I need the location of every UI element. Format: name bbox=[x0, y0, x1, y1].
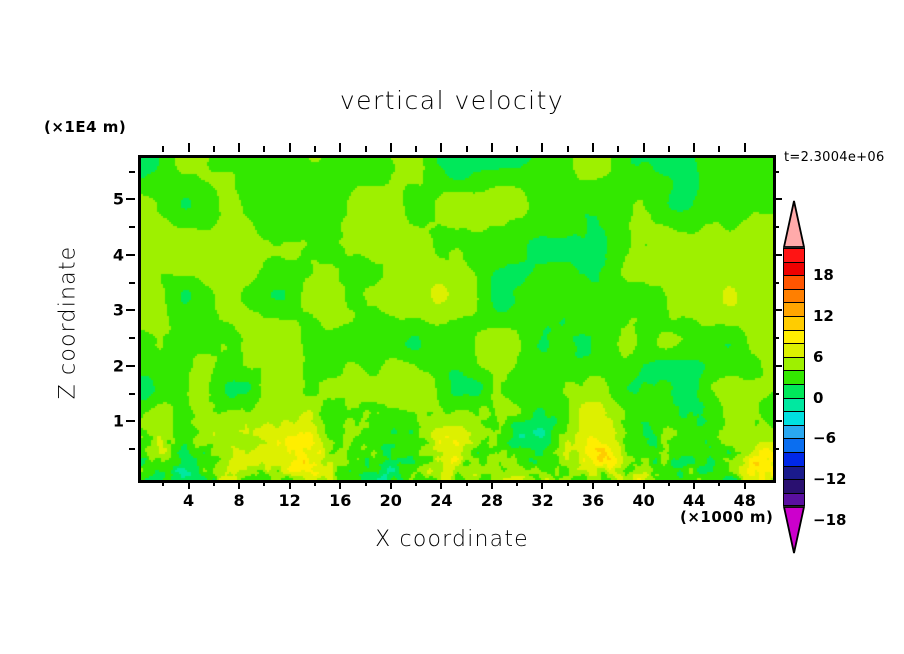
colorbar-band bbox=[783, 493, 805, 507]
x-tick-top bbox=[744, 143, 746, 152]
x-tick-top bbox=[289, 143, 291, 152]
x-tick-top bbox=[188, 143, 190, 152]
colorbar-tick-label: 6 bbox=[813, 348, 823, 366]
y-tick bbox=[129, 226, 135, 228]
contour-field-canvas bbox=[141, 158, 773, 480]
colorbar-band bbox=[783, 425, 805, 439]
colorbar-tick-label: 0 bbox=[813, 389, 823, 407]
x-tick-label: 20 bbox=[380, 491, 402, 510]
y-tick-label: 3 bbox=[98, 301, 124, 320]
y-tick bbox=[129, 282, 135, 284]
x-tick-top bbox=[592, 143, 594, 152]
colorbar-band bbox=[783, 330, 805, 344]
x-tick bbox=[516, 480, 518, 486]
y-tick bbox=[129, 393, 135, 395]
colorbar-band bbox=[783, 275, 805, 289]
x-tick bbox=[592, 480, 594, 489]
x-tick bbox=[718, 480, 720, 486]
x-tick bbox=[339, 480, 341, 489]
x-tick-top bbox=[567, 146, 569, 152]
colorbar: 181260−6−12−18 bbox=[779, 200, 899, 520]
x-tick-top bbox=[415, 146, 417, 152]
x-tick bbox=[314, 480, 316, 486]
colorbar-band bbox=[783, 262, 805, 276]
x-tick-top bbox=[718, 146, 720, 152]
x-tick-label: 40 bbox=[632, 491, 654, 510]
colorbar-tick-label: −12 bbox=[813, 470, 846, 488]
timestamp-annotation: t=2.3004e+06 bbox=[784, 150, 885, 165]
x-tick-top bbox=[339, 143, 341, 152]
x-tick-label: 12 bbox=[279, 491, 301, 510]
colorbar-band bbox=[783, 343, 805, 357]
y-tick-right bbox=[773, 171, 779, 173]
colorbar-band bbox=[783, 452, 805, 466]
x-tick-top bbox=[365, 146, 367, 152]
y-tick bbox=[129, 448, 135, 450]
x-tick bbox=[567, 480, 569, 486]
colorbar-band bbox=[783, 357, 805, 371]
colorbar-band bbox=[783, 248, 805, 262]
y-tick bbox=[129, 171, 135, 173]
y-axis-title: Z coordinate bbox=[56, 193, 81, 453]
x-tick-top bbox=[162, 146, 164, 152]
x-tick bbox=[263, 480, 265, 486]
colorbar-band bbox=[783, 411, 805, 425]
x-tick-top bbox=[617, 146, 619, 152]
x-tick bbox=[213, 480, 215, 486]
chart-title: vertical velocity bbox=[0, 86, 904, 115]
colorbar-band bbox=[783, 384, 805, 398]
x-tick-top bbox=[466, 146, 468, 152]
y-tick-label: 1 bbox=[98, 412, 124, 431]
y-tick bbox=[129, 337, 135, 339]
x-tick bbox=[188, 480, 190, 489]
x-tick-top bbox=[693, 143, 695, 152]
colorbar-band bbox=[783, 302, 805, 316]
x-axis-unit-label: (×1000 m) bbox=[680, 508, 773, 526]
x-tick-top bbox=[314, 146, 316, 152]
x-tick bbox=[643, 480, 645, 489]
x-tick-top bbox=[238, 143, 240, 152]
x-tick bbox=[238, 480, 240, 489]
x-tick-label: 48 bbox=[734, 491, 756, 510]
x-tick-label: 8 bbox=[234, 491, 245, 510]
colorbar-band bbox=[783, 466, 805, 480]
x-tick bbox=[668, 480, 670, 486]
y-tick bbox=[126, 198, 135, 200]
x-tick-top bbox=[668, 146, 670, 152]
x-tick bbox=[415, 480, 417, 486]
y-tick-label: 5 bbox=[98, 190, 124, 209]
colorbar-tick-label: 18 bbox=[813, 266, 834, 284]
colorbar-band bbox=[783, 289, 805, 303]
x-tick bbox=[693, 480, 695, 489]
x-tick bbox=[466, 480, 468, 486]
y-axis-unit-label: (×1E4 m) bbox=[44, 118, 126, 136]
y-tick-label: 4 bbox=[98, 245, 124, 264]
x-tick-top bbox=[516, 146, 518, 152]
x-tick-label: 36 bbox=[582, 491, 604, 510]
colorbar-band bbox=[783, 316, 805, 330]
x-axis-title: X coordinate bbox=[0, 527, 904, 552]
x-tick-label: 4 bbox=[183, 491, 194, 510]
y-tick bbox=[126, 309, 135, 311]
x-tick bbox=[390, 480, 392, 489]
colorbar-tick-label: −18 bbox=[813, 511, 846, 529]
x-tick bbox=[491, 480, 493, 489]
colorbar-band bbox=[783, 370, 805, 384]
y-tick-label: 2 bbox=[98, 356, 124, 375]
y-tick bbox=[126, 365, 135, 367]
x-tick-top bbox=[440, 143, 442, 152]
x-tick-label: 24 bbox=[430, 491, 452, 510]
x-tick-label: 16 bbox=[329, 491, 351, 510]
y-tick bbox=[126, 420, 135, 422]
x-tick-label: 44 bbox=[683, 491, 705, 510]
x-tick-top bbox=[491, 143, 493, 152]
x-tick-label: 32 bbox=[531, 491, 553, 510]
colorbar-bands bbox=[783, 248, 805, 506]
colorbar-tick-label: −6 bbox=[813, 429, 836, 447]
x-tick-top bbox=[390, 143, 392, 152]
x-tick bbox=[617, 480, 619, 486]
x-tick bbox=[289, 480, 291, 489]
colorbar-cap-bottom-icon bbox=[783, 506, 805, 554]
contour-plot-area bbox=[138, 155, 776, 483]
x-tick-top bbox=[643, 143, 645, 152]
colorbar-cap-top-icon bbox=[783, 200, 805, 248]
colorbar-band bbox=[783, 479, 805, 493]
colorbar-band bbox=[783, 398, 805, 412]
colorbar-band bbox=[783, 438, 805, 452]
y-tick bbox=[126, 254, 135, 256]
x-tick-top bbox=[541, 143, 543, 152]
x-tick bbox=[365, 480, 367, 486]
x-tick bbox=[744, 480, 746, 489]
x-tick bbox=[440, 480, 442, 489]
x-tick-top bbox=[263, 146, 265, 152]
x-tick-top bbox=[213, 146, 215, 152]
colorbar-tick-label: 12 bbox=[813, 307, 834, 325]
x-tick bbox=[162, 480, 164, 486]
x-tick bbox=[541, 480, 543, 489]
x-tick-label: 28 bbox=[481, 491, 503, 510]
